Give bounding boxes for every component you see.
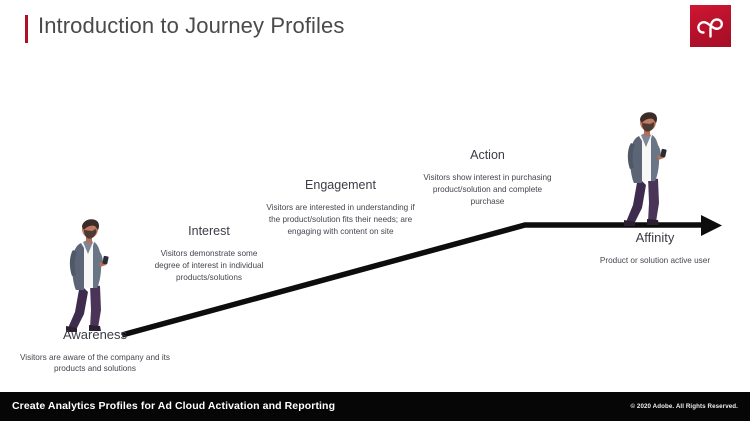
stage-affinity: Affinity Product or solution active user	[565, 230, 745, 266]
page-title: Introduction to Journey Profiles	[38, 13, 344, 39]
stage-label-action: Action	[415, 148, 560, 163]
stage-description-action: Visitors show interest in purchasing pro…	[415, 172, 560, 208]
stage-description-engagement: Visitors are interested in understanding…	[263, 202, 418, 238]
footer-copyright: © 2020 Adobe. All Rights Reserved.	[630, 403, 738, 410]
stage-description-interest: Visitors demonstrate some degree of inte…	[148, 248, 270, 284]
walking-person-with-phone-illustration	[60, 218, 116, 334]
slide-canvas: Introduction to Journey Profiles	[0, 0, 750, 421]
stage-description-awareness: Visitors are aware of the company and it…	[10, 352, 180, 376]
adobe-analytics-logo	[690, 5, 731, 47]
stage-label-interest: Interest	[148, 224, 270, 239]
stage-engagement: Engagement Visitors are interested in un…	[263, 178, 418, 238]
stage-awareness: Awareness Visitors are aware of the comp…	[10, 327, 180, 375]
stage-label-affinity: Affinity	[565, 230, 745, 246]
stage-description-affinity: Product or solution active user	[565, 255, 745, 267]
walking-person-with-phone-illustration	[618, 110, 674, 228]
footer-title: Create Analytics Profiles for Ad Cloud A…	[12, 400, 335, 412]
stage-label-awareness: Awareness	[10, 327, 180, 343]
stage-interest: Interest Visitors demonstrate some degre…	[148, 224, 270, 284]
title-accent-bar	[25, 15, 28, 43]
stage-action: Action Visitors show interest in purchas…	[415, 148, 560, 208]
stage-label-engagement: Engagement	[263, 178, 418, 193]
